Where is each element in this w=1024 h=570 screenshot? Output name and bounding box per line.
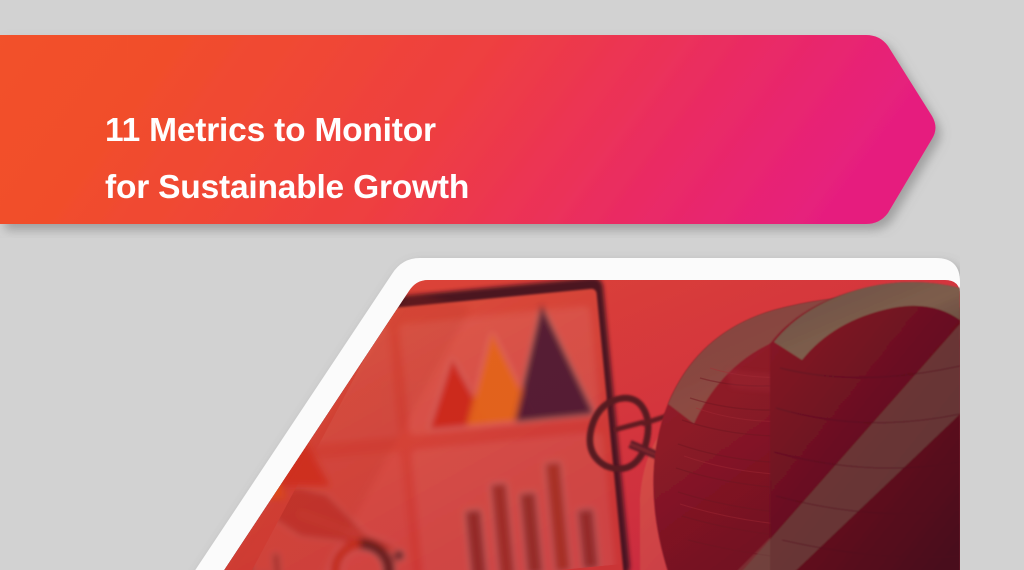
hero-photo-graphic xyxy=(170,248,960,570)
hero-photo xyxy=(170,248,960,570)
page-canvas: 11 Metrics to Monitor for Sustainable Gr… xyxy=(0,0,1024,570)
title-banner-shape xyxy=(0,28,980,238)
title-banner: 11 Metrics to Monitor for Sustainable Gr… xyxy=(0,28,980,238)
